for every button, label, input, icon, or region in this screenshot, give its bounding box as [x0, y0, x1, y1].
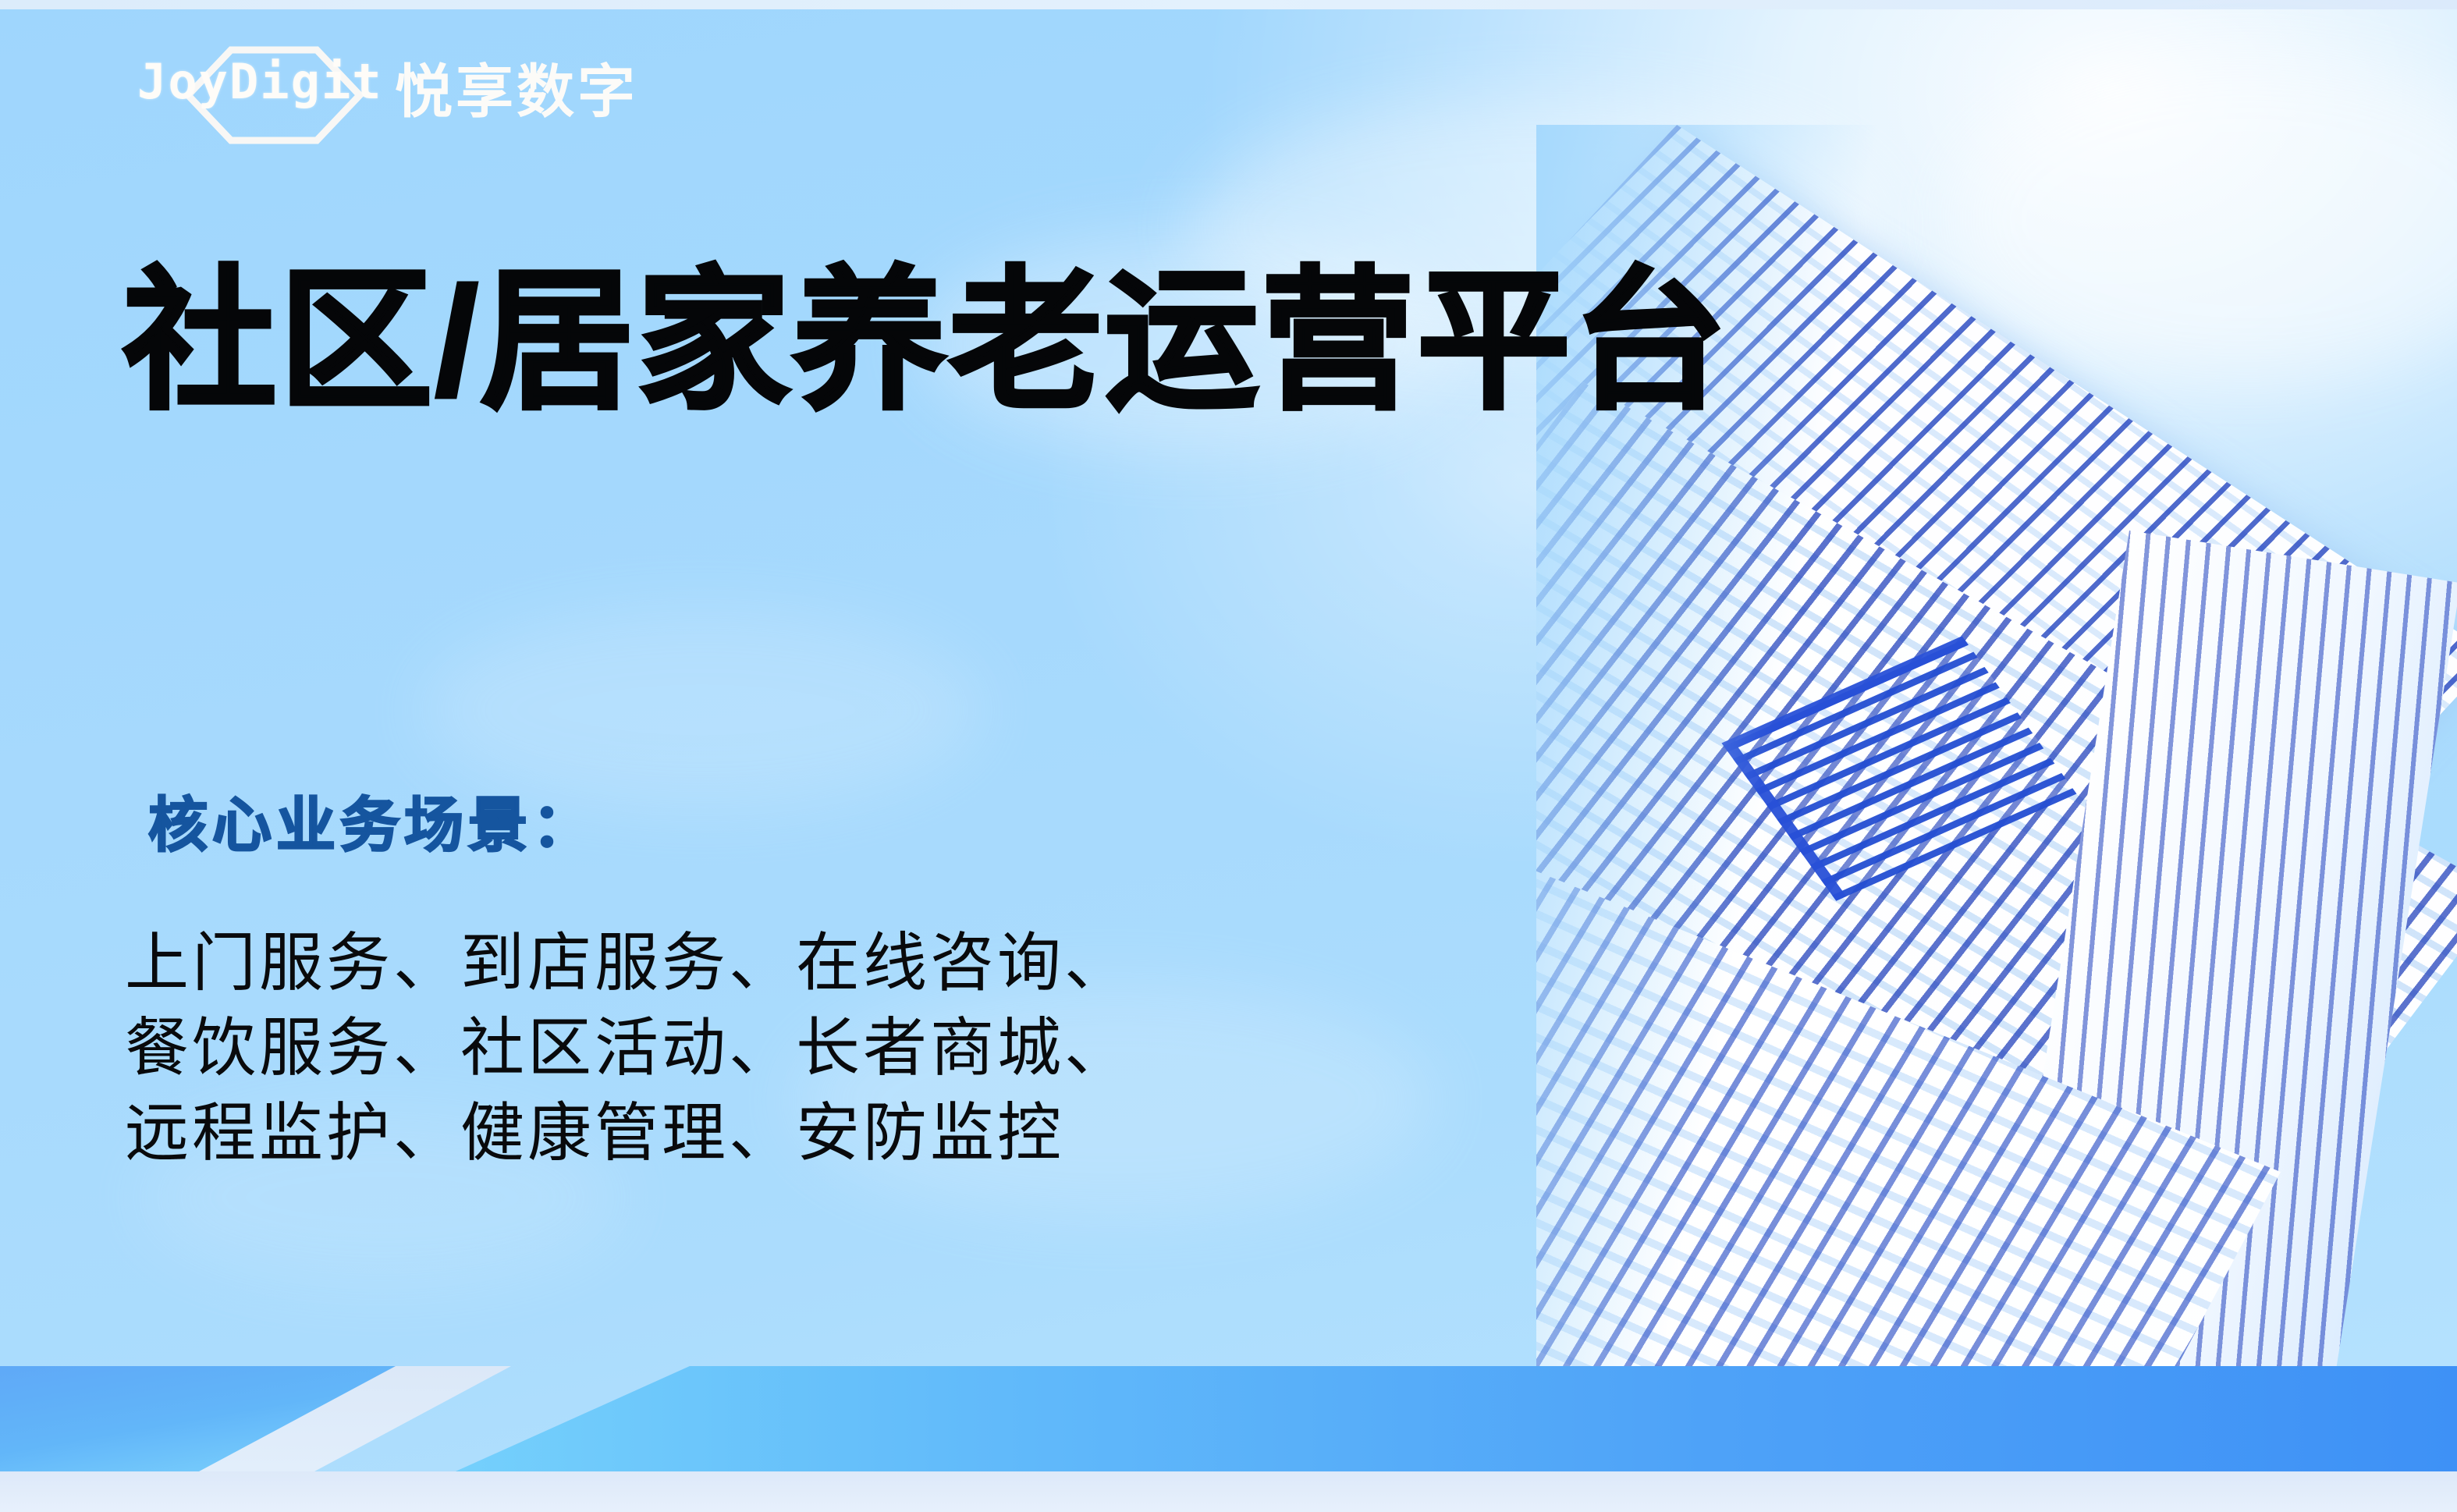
top-edge-strip — [0, 0, 2457, 9]
bottom-decorative-band — [0, 1325, 2457, 1512]
core-scenarios-list: 上门服务、到店服务、在线咨询、 餐饮服务、社区活动、长者商城、 远程监护、健康管… — [125, 921, 1131, 1176]
logo-chinese-name: 悦享数字 — [395, 45, 638, 129]
list-item: 上门服务、到店服务、在线咨询、 — [125, 921, 1131, 1006]
brand-logo: JoyDigit 悦享数字 — [137, 39, 668, 150]
band-shape-right — [328, 1366, 2457, 1471]
list-item: 餐饮服务、社区活动、长者商城、 — [125, 1006, 1131, 1091]
list-item: 远程监护、健康管理、安防监控 — [125, 1091, 1131, 1176]
section-heading: 核心业务场景： — [148, 777, 596, 863]
page-title: 社区/居家养老运营平台 — [123, 265, 1729, 418]
band-footer-strip — [0, 1471, 2457, 1512]
logo-wordmark: JoyDigit — [137, 53, 383, 110]
slide-root: JoyDigit 悦享数字 社区/居家养老运营平台 核心业务场景： 上门服务、到… — [0, 0, 2457, 1512]
